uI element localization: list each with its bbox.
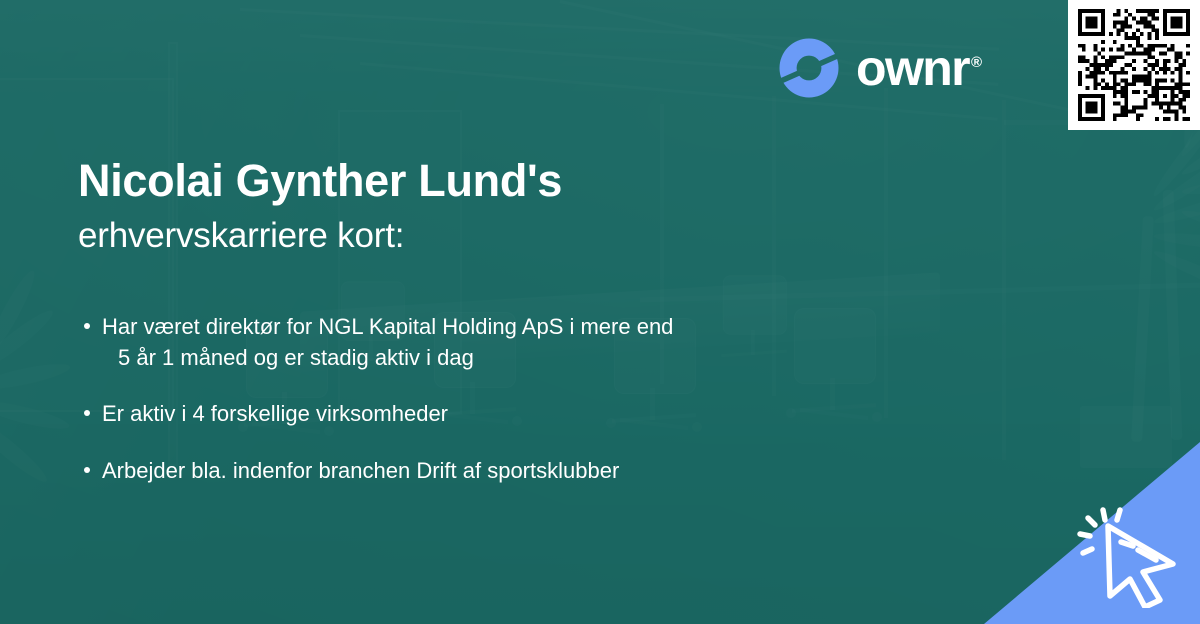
ownr-circle-swirl-icon bbox=[778, 37, 840, 99]
list-item: Har været direktør for NGL Kapital Holdi… bbox=[80, 311, 880, 373]
list-item: Er aktiv i 4 forskellige virksomheder bbox=[80, 398, 880, 429]
fact-text: Arbejder bla. indenfor branchen Drift af… bbox=[102, 455, 880, 486]
registered-trademark-icon: ® bbox=[971, 54, 982, 71]
list-item: Arbejder bla. indenfor branchen Drift af… bbox=[80, 455, 880, 486]
headline-person-name: Nicolai Gynther Lund's bbox=[78, 156, 978, 206]
bullet-icon bbox=[84, 410, 90, 416]
bullet-icon bbox=[84, 323, 90, 329]
brand-wordmark: ownr® bbox=[856, 43, 982, 93]
page-title: Nicolai Gynther Lund's erhvervskarriere … bbox=[78, 156, 978, 257]
fact-line-primary: Er aktiv i 4 forskellige virksomheder bbox=[102, 401, 448, 426]
fact-text: Er aktiv i 4 forskellige virksomheder bbox=[102, 398, 880, 429]
click-cursor-icon bbox=[1074, 504, 1186, 608]
brand-lockup: ownr® bbox=[778, 35, 982, 101]
qr-code-icon[interactable] bbox=[1078, 9, 1190, 121]
career-facts-list: Har været direktør for NGL Kapital Holdi… bbox=[80, 311, 880, 486]
brand-name: ownr bbox=[856, 40, 969, 96]
fact-text: Har været direktør for NGL Kapital Holdi… bbox=[102, 311, 880, 373]
promo-card: ownr® Nicolai Gynther Lund's erhvervskar… bbox=[0, 0, 1200, 624]
bullet-icon bbox=[84, 467, 90, 473]
headline-subtitle: erhvervskarriere kort: bbox=[78, 215, 978, 257]
qr-code-panel[interactable] bbox=[1068, 0, 1200, 130]
fact-line-primary: Arbejder bla. indenfor branchen Drift af… bbox=[102, 458, 619, 483]
fact-line-continuation: 5 år 1 måned og er stadig aktiv i dag bbox=[102, 342, 880, 373]
fact-line-primary: Har været direktør for NGL Kapital Holdi… bbox=[102, 314, 673, 339]
